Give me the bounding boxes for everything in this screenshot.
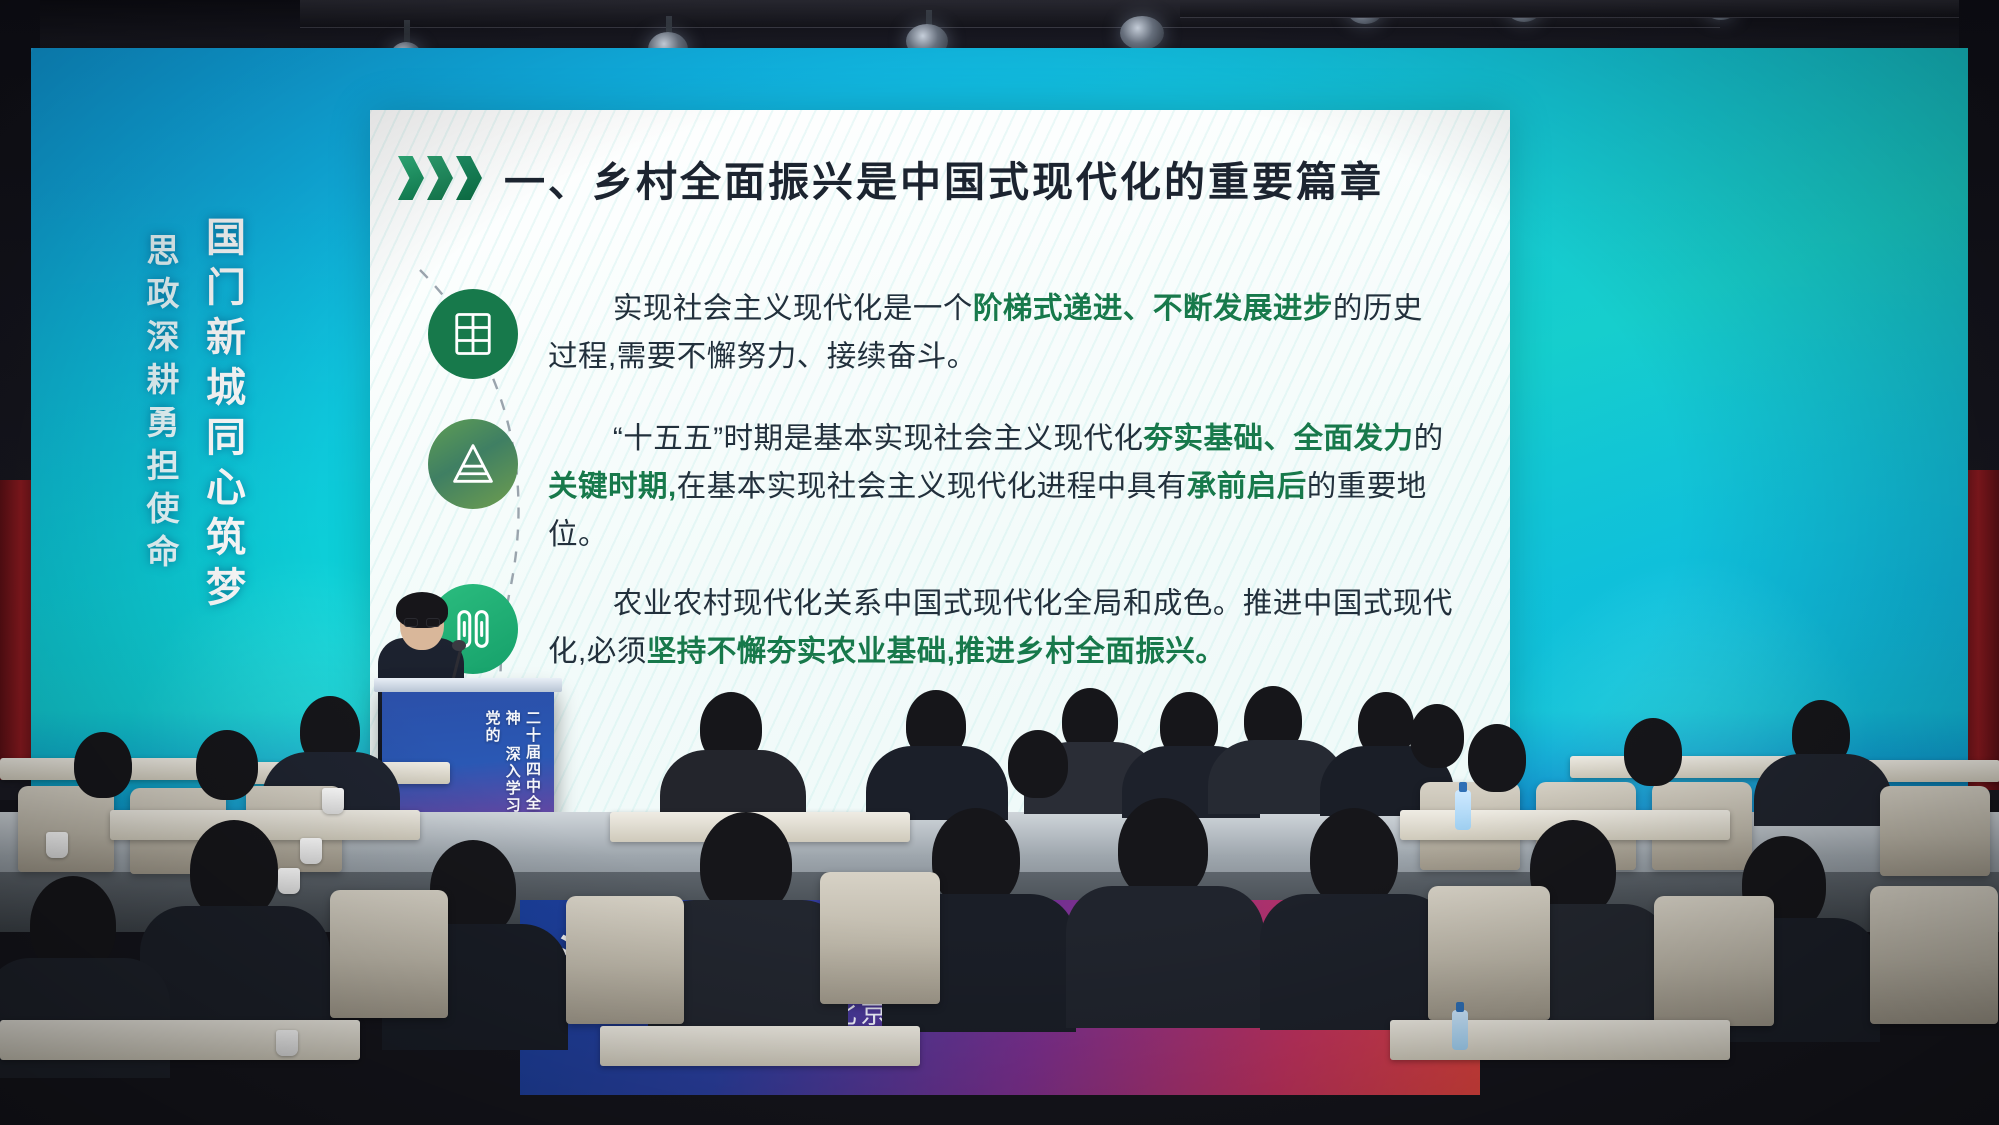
audience-chair [1654,896,1774,1026]
audience-chair [18,786,114,872]
slide-title: 一、乡村全面振兴是中国式现代化的重要篇章 [504,148,1384,208]
chevron-right-icon [427,156,453,200]
para2-run-3: 的 [1414,422,1444,455]
tea-cup [278,868,300,894]
tea-cup [276,1030,298,1056]
led-slogan-left-1: 思政深耕勇担使命 [136,233,184,577]
audience-chair [1870,886,1998,1024]
slide-block-2: “十五五”时期是基本实现社会主义现代化夯实基础、全面发力的关键时期,在基本实现社… [428,415,1468,558]
audience-chair [330,890,448,1018]
document-grid-icon [428,289,518,379]
slide-title-row: 一、乡村全面振兴是中国式现代化的重要篇章 [398,148,1384,208]
speaker-glasses-icon [404,618,440,627]
conference-hall-scene: 思政深耕勇担使命 国门新城同心筑梦 思政深耕勇担使命 国门新城同心筑梦 一、乡村… [0,0,1999,1125]
tea-cup [300,838,322,864]
audience-head [1008,730,1068,798]
audience-desk [0,1020,360,1060]
audience-shoulders [1260,894,1452,1030]
slide-block-3: 农业农村现代化关系中国式现代化全局和成色。推进中国式现代化,必须坚持不懈夯实农业… [428,580,1473,676]
slide-paragraph-1: 实现社会主义现代化是一个阶梯式递进、不断发展进步的历史过程,需要不懈努力、接续奋… [548,285,1448,381]
audience-shoulders [1754,754,1892,826]
pyramid-steps-icon [428,419,518,509]
audience-chair [820,872,940,1004]
tea-cup [46,832,68,858]
audience-desk [600,1026,920,1066]
para2-run-6: 承前启后 [1187,470,1307,503]
para2-run-4: 关键时期, [548,470,677,503]
audience-head [932,808,1020,908]
slide-paragraph-3: 农业农村现代化关系中国式现代化全局和成色。推进中国式现代化,必须坚持不懈夯实农业… [548,580,1473,676]
para1-run-2: 阶梯式递进、不断发展进步 [973,292,1333,325]
slide-block-1: 实现社会主义现代化是一个阶梯式递进、不断发展进步的历史过程,需要不懈努力、接续奋… [428,285,1448,381]
tea-cup [322,788,344,814]
audience-shoulders [1066,886,1264,1028]
microphone-head-icon [452,640,466,651]
audience-area [0,690,1999,1125]
audience-head [74,732,132,798]
audience-head [1118,798,1208,900]
para2-run-2: 夯实基础、全面发力 [1144,422,1414,455]
audience-chair [566,896,684,1024]
lighting-truss-secondary [1180,0,1999,18]
audience-head [190,820,278,920]
para3-run-2: 坚持不懈夯实农业基础,推进乡村全面振兴。 [647,635,1226,668]
audience-desk [1390,1020,1730,1060]
spotlight-stem [404,20,410,42]
audience-chair [1428,886,1550,1020]
chevron-right-icon [456,156,482,200]
para2-run-5: 在基本实现社会主义现代化进程中具有 [677,470,1187,503]
audience-shoulders [0,958,170,1078]
chevron-right-icon [398,156,424,200]
water-bottle [1455,790,1471,830]
chevron-group-icon [398,156,482,200]
audience-chair [1880,786,1990,876]
para2-run-1: “十五五”时期是基本实现社会主义现代化 [613,422,1144,455]
water-bottle [1452,1010,1468,1050]
audience-head [196,730,258,800]
slide-paragraph-2: “十五五”时期是基本实现社会主义现代化夯实基础、全面发力的关键时期,在基本实现社… [548,415,1468,558]
spotlight-icon [1120,16,1164,50]
audience-head [1624,718,1682,786]
audience-head [1310,808,1398,908]
led-slogan-left-2: 国门新城同心筑梦 [193,216,251,616]
audience-head [1410,704,1464,768]
para1-run-1: 实现社会主义现代化是一个 [613,292,973,325]
audience-head [1468,724,1526,792]
